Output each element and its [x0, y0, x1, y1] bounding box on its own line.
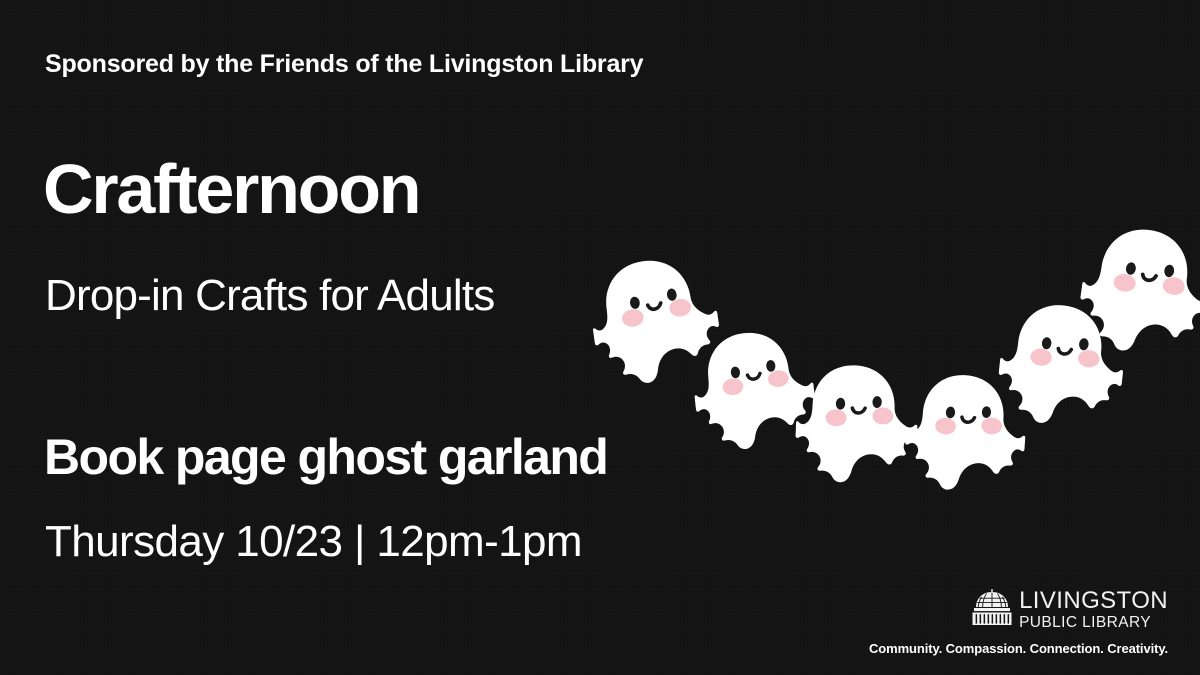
event-datetime: Thursday 10/23 | 12pm-1pm	[45, 520, 582, 564]
ghost-3	[794, 356, 920, 489]
library-logo: LIVINGSTON PUBLIC LIBRARY Community. Com…	[869, 589, 1168, 656]
event-poster: Sponsored by the Friends of the Livingst…	[0, 0, 1200, 675]
library-dome-icon	[972, 589, 1012, 631]
logo-row: LIVINGSTON PUBLIC LIBRARY	[972, 589, 1168, 631]
page-title: Crafternoon	[43, 154, 419, 224]
ghost-6	[1073, 214, 1200, 366]
sponsor-line: Sponsored by the Friends of the Livingst…	[45, 50, 643, 79]
subtitle: Drop-in Crafts for Adults	[45, 274, 495, 318]
logo-wordmark: LIVINGSTON PUBLIC LIBRARY	[1019, 589, 1168, 631]
logo-line-public-library: PUBLIC LIBRARY	[1019, 615, 1168, 631]
craft-name: Book page ghost garland	[44, 432, 607, 482]
logo-tagline: Community. Compassion. Connection. Creat…	[869, 641, 1168, 656]
logo-line-livingston: LIVINGSTON	[1019, 589, 1168, 613]
